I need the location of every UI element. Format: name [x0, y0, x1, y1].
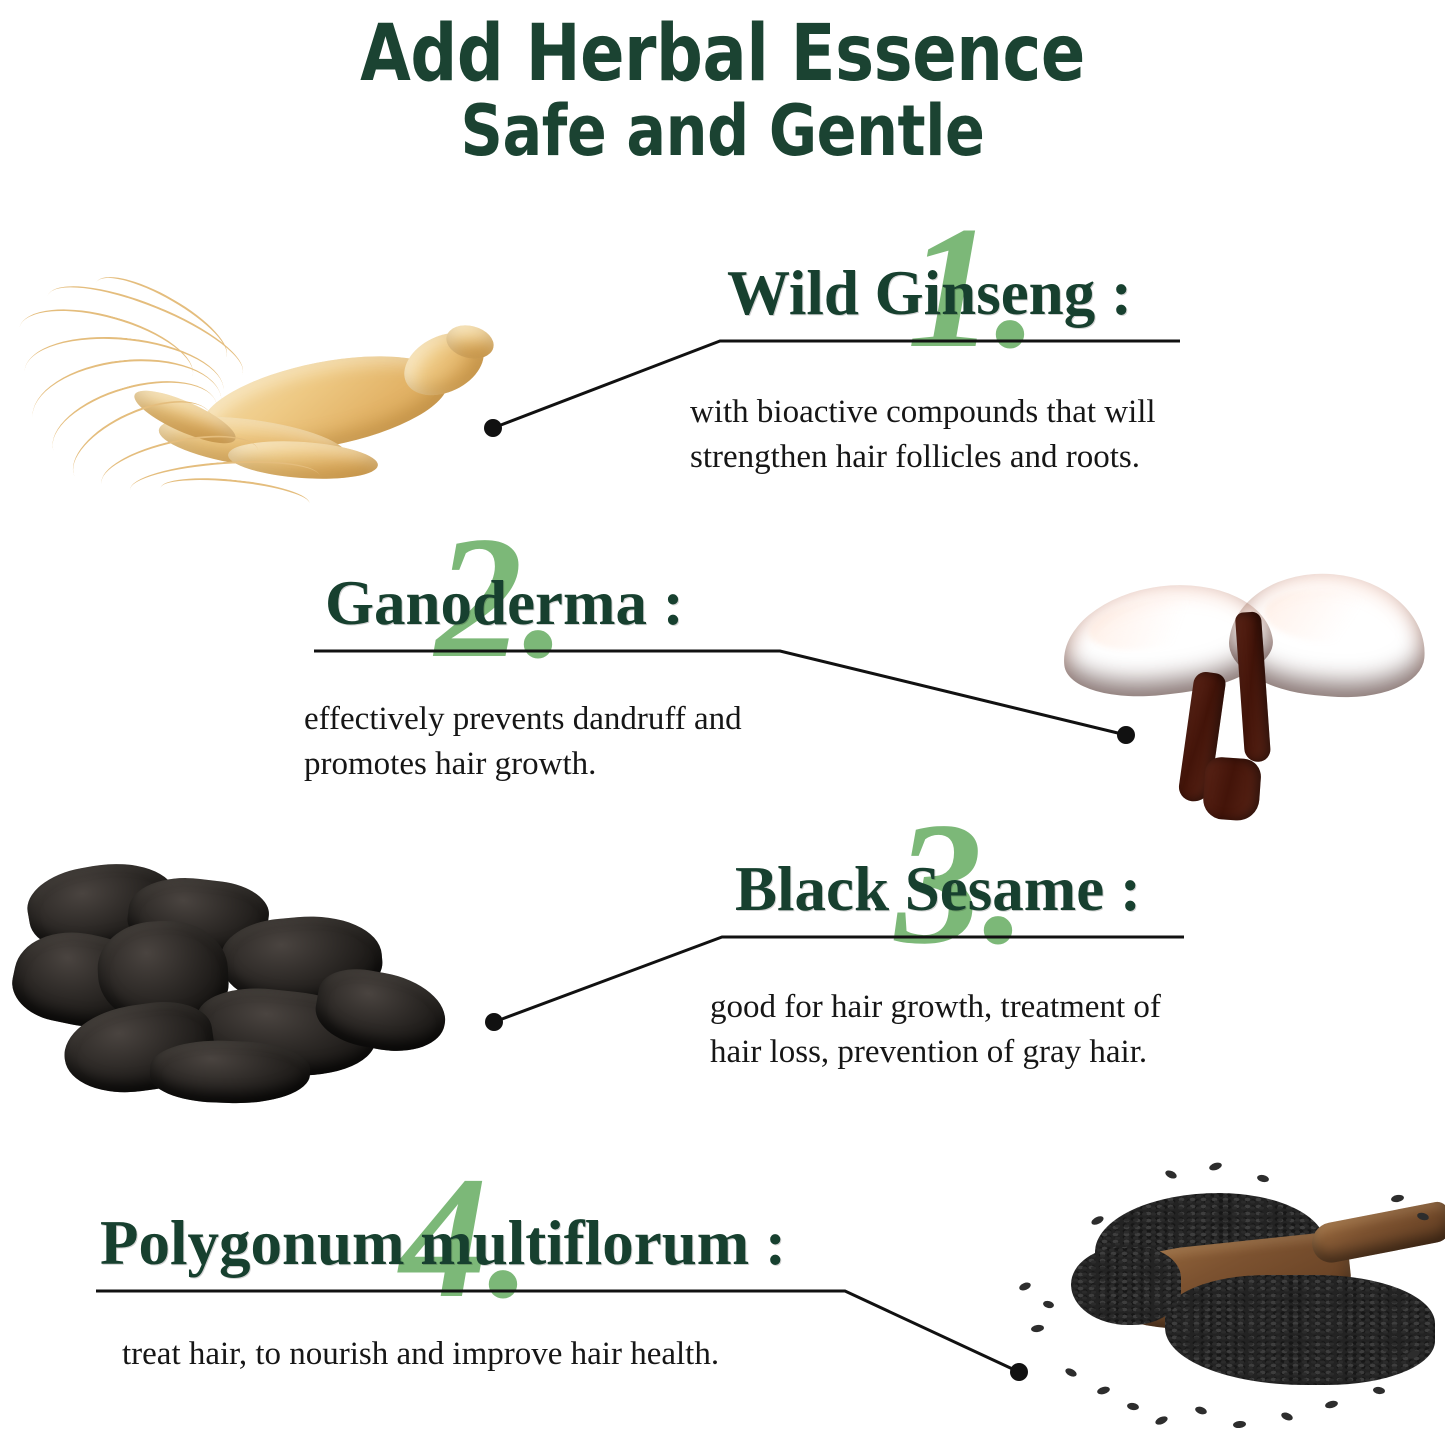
ingredient-heading-2: Ganoderma : — [325, 568, 684, 638]
page-title-line-1: Add Herbal Essence — [116, 14, 1330, 95]
ingredient-description-2-line-2: promotes hair growth. — [304, 742, 596, 788]
black-sesame-seeds-wooden-scoop-photo — [995, 1155, 1445, 1445]
ingredient-block-4: 4. Polygonum multiflorum : — [100, 1212, 860, 1298]
dried-dark-herb-slices-photo — [0, 855, 470, 1105]
ingredient-description-1-line-1: with bioactive compounds that will — [690, 390, 1156, 436]
ganoderma-reishi-mushroom-photo — [1058, 552, 1430, 832]
ingredient-heading-3: Black Sesame : — [735, 854, 1141, 924]
ingredient-heading-1: Wild Ginseng : — [727, 258, 1132, 328]
page-title: Add Herbal Essence Safe and Gentle — [0, 14, 1445, 168]
ingredient-block-3: 3. Black Sesame : — [735, 858, 1205, 944]
ingredient-description-1-line-2: strengthen hair follicles and roots. — [690, 435, 1140, 481]
ingredient-description-3-line-2: hair loss, prevention of gray hair. — [710, 1030, 1147, 1076]
ingredient-heading-wrap-1: 1. Wild Ginseng : — [727, 262, 1197, 348]
ingredient-block-2: 2. Ganoderma : — [325, 572, 795, 658]
ingredient-heading-wrap-4: 4. Polygonum multiflorum : — [100, 1212, 860, 1298]
wild-ginseng-root-photo — [10, 290, 490, 510]
ingredient-description-2-line-1: effectively prevents dandruff and — [304, 697, 742, 743]
ingredient-block-1: 1. Wild Ginseng : — [727, 262, 1197, 348]
infographic-page: Add Herbal Essence Safe and Gentle — [0, 0, 1445, 1445]
ingredient-heading-wrap-3: 3. Black Sesame : — [735, 858, 1205, 944]
page-title-line-2: Safe and Gentle — [116, 95, 1330, 168]
ingredient-description-4-line-1: treat hair, to nourish and improve hair … — [122, 1332, 719, 1378]
ingredient-heading-wrap-2: 2. Ganoderma : — [325, 572, 795, 658]
leader-dot-3 — [485, 1013, 503, 1031]
ingredient-description-3-line-1: good for hair growth, treatment of — [710, 985, 1161, 1031]
ingredient-heading-4: Polygonum multiflorum : — [100, 1208, 786, 1278]
